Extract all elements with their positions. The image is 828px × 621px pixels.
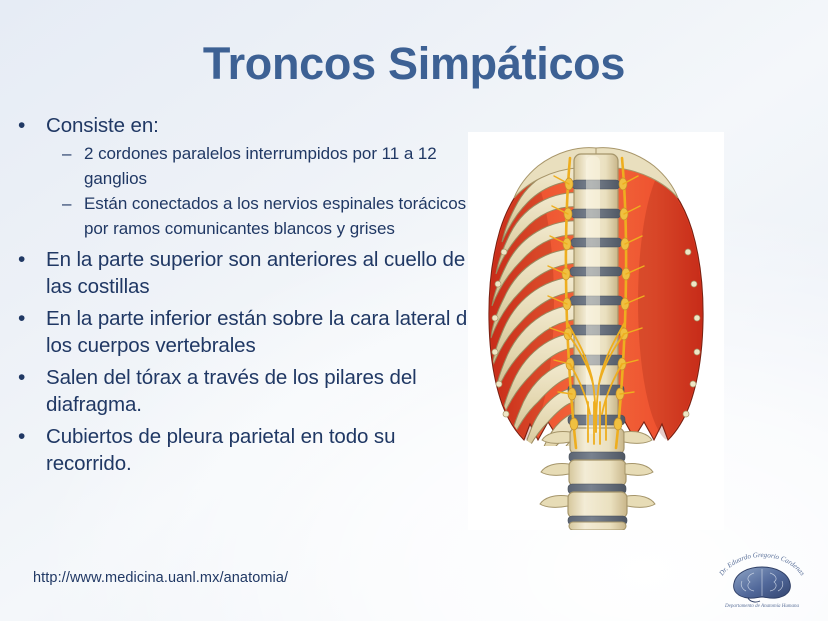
- dash-marker: –: [62, 191, 84, 216]
- bullet-text: Consiste en:: [46, 112, 159, 139]
- list-item: – 2 cordones paralelos interrumpidos por…: [12, 141, 482, 191]
- bullet-marker: •: [12, 305, 46, 333]
- list-item: • Consiste en:: [12, 112, 482, 140]
- source-url: http://www.medicina.uanl.mx/anatomia/: [33, 570, 288, 586]
- bullet-text: Salen del tórax a través de los pilares …: [46, 364, 482, 418]
- bullet-list: • Consiste en: – 2 cordones paralelos in…: [12, 112, 482, 478]
- right-muscle-shading: [638, 162, 706, 442]
- slide: Troncos Simpáticos • Consiste en: – 2 co…: [0, 0, 828, 621]
- thoracic-cage-sympathetic-trunks-illustration: [468, 132, 724, 530]
- logo-sub-text: Departamento de Anatomía Humana: [724, 604, 799, 609]
- bullet-marker: •: [12, 364, 46, 392]
- list-item: • Salen del tórax a través de los pilare…: [12, 364, 482, 418]
- bullet-text: 2 cordones paralelos interrumpidos por 1…: [84, 141, 482, 191]
- list-item: • Cubiertos de pleura parietal en todo s…: [12, 423, 482, 477]
- bullet-text: Están conectados a los nervios espinales…: [84, 191, 482, 241]
- bullet-marker: •: [12, 423, 46, 451]
- dash-marker: –: [62, 141, 84, 166]
- bullet-text: En la parte inferior están sobre la cara…: [46, 305, 482, 359]
- page-title: Troncos Simpáticos: [0, 38, 828, 90]
- bullet-text: Cubiertos de pleura parietal en todo su …: [46, 423, 482, 477]
- list-item: – Están conectados a los nervios espinal…: [12, 191, 482, 241]
- brain-glyph: [734, 567, 791, 602]
- brain-logo: Dr. Eduardo Gregorio Cardenas Departamen…: [708, 549, 816, 609]
- lumbar-vertebrae: [540, 428, 655, 530]
- bullet-marker: •: [12, 246, 46, 274]
- bullet-marker: •: [12, 112, 46, 140]
- list-item: • En la parte inferior están sobre la ca…: [12, 305, 482, 359]
- bullet-text: En la parte superior son anteriores al c…: [46, 246, 482, 300]
- list-item: • En la parte superior son anteriores al…: [12, 246, 482, 300]
